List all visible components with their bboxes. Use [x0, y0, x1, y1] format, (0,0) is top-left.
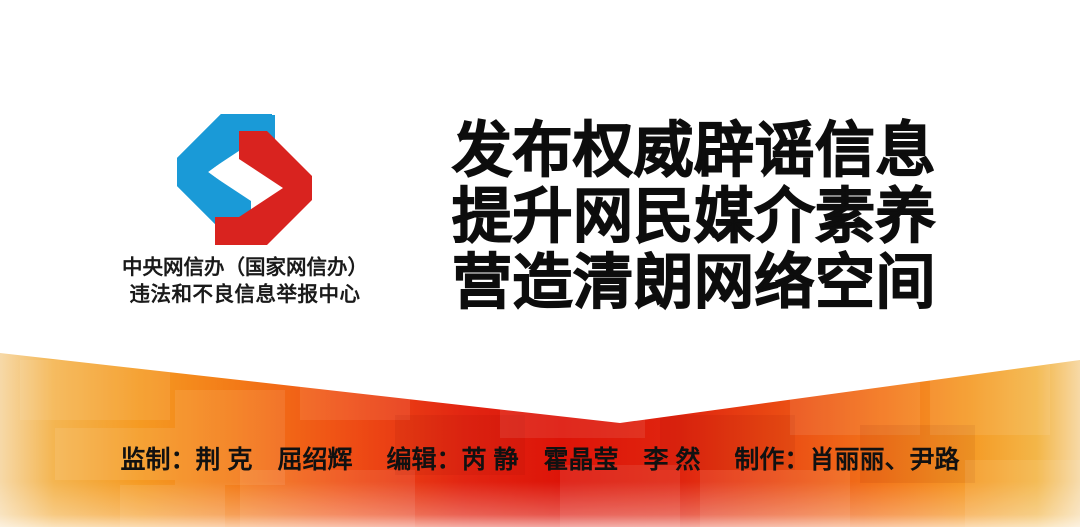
credit-names-producer: 荆 克 屈绍辉: [196, 443, 353, 477]
logo-caption: 中央网信办（国家网信办） 违法和不良信息举报中心: [95, 254, 395, 308]
gradient-ribbon: [0, 320, 1080, 527]
headline-line-1: 发布权威辟谣信息: [452, 118, 952, 184]
logo-caption-line2: 违法和不良信息举报中心: [95, 281, 395, 308]
credit-role-production: 制作：: [734, 443, 809, 477]
cac-report-center-logo-icon: [175, 112, 315, 248]
headline-line-3: 营造清朗网络空间: [452, 250, 952, 316]
credit-names-production: 肖丽丽、尹路: [809, 443, 959, 477]
credit-role-producer: 监制：: [121, 443, 196, 477]
ribbon-texture-block: [120, 485, 225, 527]
credit-names-editor: 芮 静 霍晶莹 李 然: [462, 443, 701, 477]
logo-block: 中央网信办（国家网信办） 违法和不良信息举报中心: [95, 112, 395, 312]
headline-line-2: 提升网民媒介素养: [452, 184, 952, 250]
ribbon-texture-block: [700, 470, 850, 527]
credits-line: 监制：荆 克 屈绍辉编辑：芮 静 霍晶莹 李 然制作：肖丽丽、尹路: [0, 443, 1080, 477]
rumor-refutation-banner: 中央网信办（国家网信办） 违法和不良信息举报中心 发布权威辟谣信息 提升网民媒介…: [0, 0, 1080, 527]
credit-role-editor: 编辑：: [387, 443, 462, 477]
headline-block: 发布权威辟谣信息 提升网民媒介素养 营造清朗网络空间: [452, 118, 952, 316]
logo-caption-line1: 中央网信办（国家网信办）: [95, 254, 395, 281]
ribbon-notch-shape: [0, 320, 1080, 440]
ribbon-texture-block: [240, 470, 415, 527]
